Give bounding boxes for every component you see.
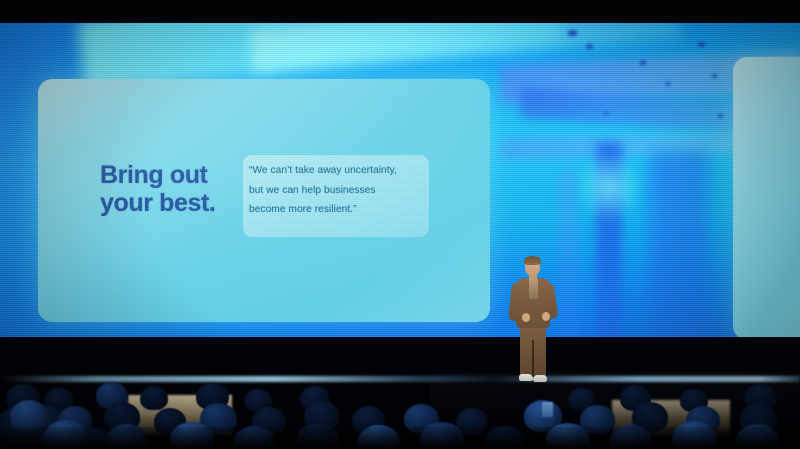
slide-headline: Bring out your best. <box>100 161 260 217</box>
presenter-hand-left <box>522 313 530 322</box>
wall-speck <box>640 60 646 65</box>
audience-head <box>140 386 168 410</box>
wall-speck <box>568 30 577 36</box>
ceiling-darkness <box>0 0 800 23</box>
led-video-wall: Bring out your best. “We can’t take away… <box>0 22 800 337</box>
audience-phone-screen <box>542 402 553 417</box>
headline-line-1: Bring out <box>100 161 260 189</box>
wall-glow-spot <box>574 152 644 222</box>
led-pixel-texture <box>733 57 800 337</box>
quote-line-1: “We can’t take away uncertainty, <box>249 161 439 181</box>
quote-line-3: become more resilient.” <box>249 200 439 220</box>
presenter-figure <box>505 258 563 386</box>
wall-speck <box>698 42 705 47</box>
wall-speck <box>586 44 593 49</box>
quote-line-2: but we can help businesses <box>249 181 439 201</box>
audience-foreground-shadow <box>0 427 800 449</box>
wall-speck <box>666 82 670 86</box>
presenter-hand-right <box>542 312 550 321</box>
presenter-shirt <box>529 279 538 299</box>
presenter-leg-gap <box>532 340 534 376</box>
conference-stage-scene: Bring out your best. “We can’t take away… <box>0 0 800 449</box>
audience-silhouettes <box>0 380 800 449</box>
wall-speck <box>718 114 723 118</box>
slide-quote: “We can’t take away uncertainty, but we … <box>249 161 439 220</box>
headline-line-2: your best. <box>100 189 260 217</box>
slide-panel-right <box>733 57 800 337</box>
wall-speck <box>604 112 608 115</box>
slide-panel-main: Bring out your best. “We can’t take away… <box>38 79 490 322</box>
presenter-hair <box>524 256 541 265</box>
wall-speck <box>712 74 717 78</box>
